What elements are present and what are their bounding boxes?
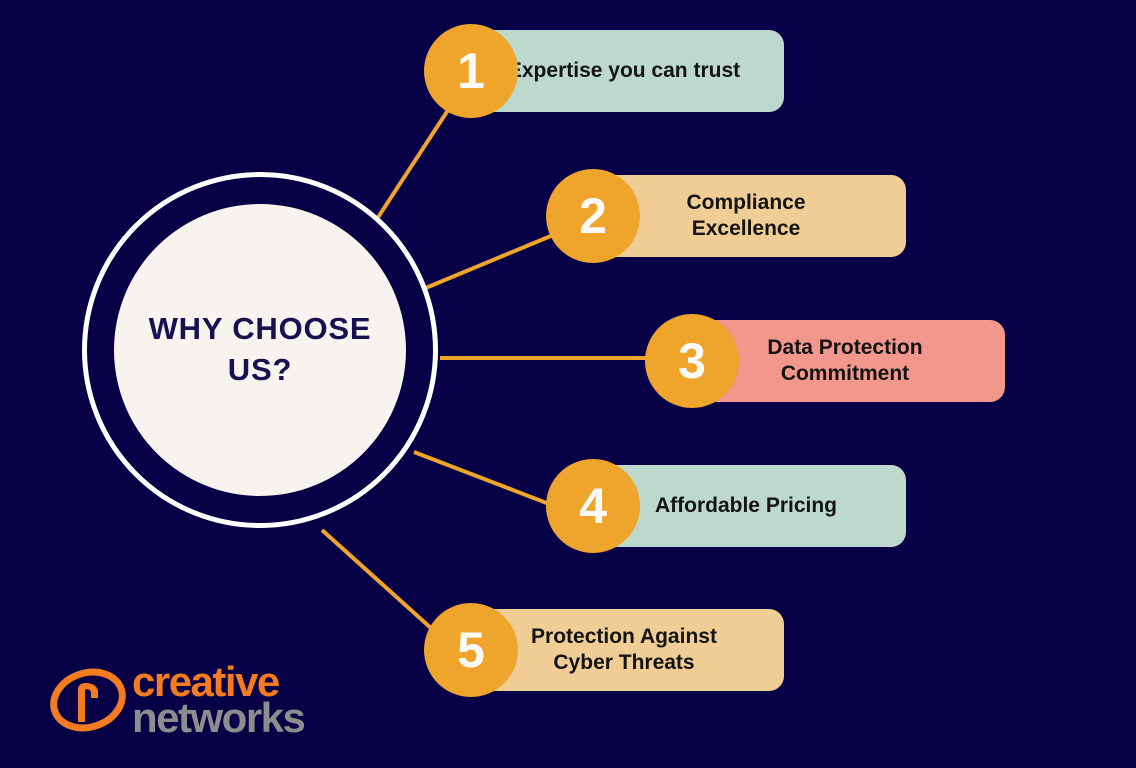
step-item-3[interactable]: Data Protection Commitment 3 bbox=[645, 314, 1059, 408]
step-number-1: 1 bbox=[457, 46, 485, 96]
page-title: WHY CHOOSE US? bbox=[135, 309, 385, 391]
step-number-2: 2 bbox=[579, 191, 607, 241]
step-item-2[interactable]: Compliance Excellence 2 bbox=[546, 169, 960, 263]
step-label-5: Protection Against Cyber Threats bbox=[517, 624, 731, 675]
creative-networks-monogram-icon bbox=[48, 664, 128, 736]
step-badge-1[interactable]: 1 bbox=[424, 24, 518, 118]
step-label-1: Expertise you can trust bbox=[494, 58, 754, 84]
step-label-4: Affordable Pricing bbox=[641, 493, 851, 519]
central-hub: WHY CHOOSE US? bbox=[82, 172, 438, 528]
step-number-5: 5 bbox=[457, 625, 485, 675]
logo-wordmark: creative networks bbox=[132, 662, 382, 738]
step-badge-2[interactable]: 2 bbox=[546, 169, 640, 263]
brand-logo[interactable]: creative networks bbox=[48, 660, 348, 740]
step-number-4: 4 bbox=[579, 481, 607, 531]
step-label-2: Compliance Excellence bbox=[672, 190, 819, 241]
step-badge-5[interactable]: 5 bbox=[424, 603, 518, 697]
infographic-canvas: WHY CHOOSE US? Expertise you can trust 1… bbox=[0, 0, 1136, 768]
logo-line-networks: networks bbox=[132, 698, 382, 738]
step-badge-3[interactable]: 3 bbox=[645, 314, 739, 408]
step-item-5[interactable]: Protection Against Cyber Threats 5 bbox=[424, 603, 838, 697]
step-label-3: Data Protection Commitment bbox=[753, 335, 936, 386]
step-number-3: 3 bbox=[678, 336, 706, 386]
step-badge-4[interactable]: 4 bbox=[546, 459, 640, 553]
step-item-4[interactable]: Affordable Pricing 4 bbox=[546, 459, 960, 553]
step-item-1[interactable]: Expertise you can trust 1 bbox=[424, 24, 838, 118]
hub-inner-circle: WHY CHOOSE US? bbox=[114, 204, 406, 496]
